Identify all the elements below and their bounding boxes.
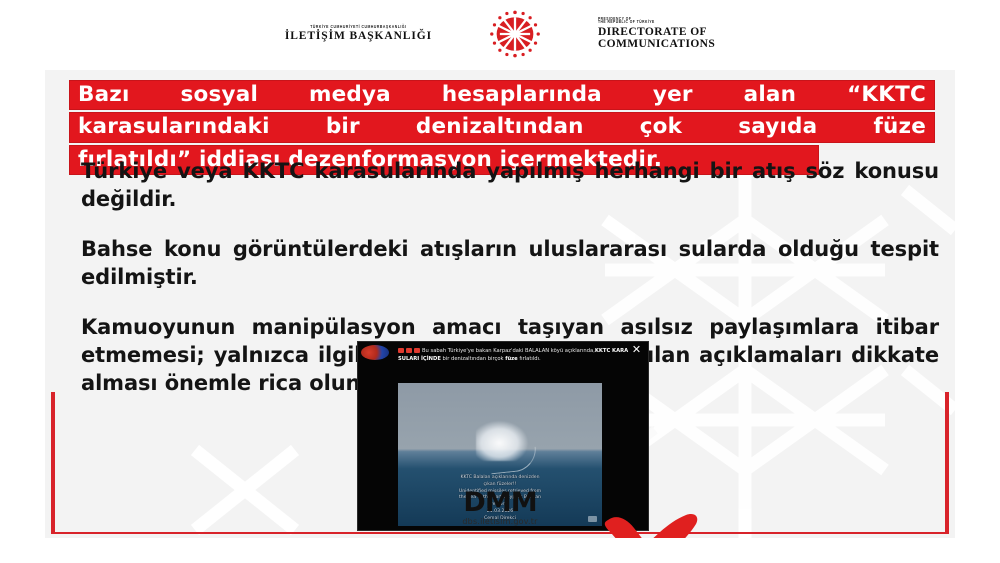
caption-mid: bir denizaltından birçok	[441, 356, 505, 362]
siren-emoji-icon	[398, 348, 404, 353]
subtitle-line-1: KKTC Balalan açıklarında denizden	[404, 475, 596, 482]
headline-line-1: Bazı sosyal medya hesaplarında yer alan …	[69, 80, 935, 110]
close-icon[interactable]: ✕	[631, 344, 642, 355]
caption-tail: fırlatıldı.	[518, 356, 541, 362]
footer-brand: DMM dbs.iletisim.gov.tr	[45, 490, 955, 526]
right-logo-superline-2: THE REPUBLIC OF TÜRKİYE	[598, 20, 715, 24]
right-accent-rail	[945, 392, 949, 534]
dmm-url-text: dbs.iletisim.gov.tr	[45, 517, 955, 526]
dmm-logo-text: DMM	[45, 490, 955, 516]
embed-header: ✕ Bu sabah Türkiye'ye bakan Karpaz'daki …	[358, 342, 648, 382]
siren-emoji-icon	[406, 348, 412, 353]
turkish-presidency-emblem-icon	[488, 7, 542, 61]
caption-lead: Bu sabah Türkiye'ye bakan Karpaz'daki BA…	[422, 348, 595, 354]
siren-emoji-icon	[414, 348, 420, 353]
missile-trail	[489, 447, 538, 475]
avatar	[361, 345, 389, 360]
caption-bold-2: füze	[505, 356, 518, 362]
header: TÜRKİYE CUMHURİYETİ CUMHURBAŞKANLIĞI İLE…	[0, 0, 1000, 68]
left-logo-superline: TÜRKİYE CUMHURİYETİ CUMHURBAŞKANLIĞI	[285, 25, 432, 29]
embed-caption: Bu sabah Türkiye'ye bakan Karpaz'daki BA…	[398, 345, 644, 363]
left-logo-name: İLETİŞİM BAŞKANLIĞI	[285, 31, 432, 43]
right-logo-name-line-1: DIRECTORATE OF	[598, 26, 715, 38]
right-logo-name-line-2: COMMUNICATIONS	[598, 38, 715, 50]
directorate-of-communications-logo: PRESIDENCY OF THE REPUBLIC OF TÜRKİYE DI…	[598, 18, 715, 51]
page-root: TÜRKİYE CUMHURİYETİ CUMHURBAŞKANLIĞI İLE…	[0, 0, 1000, 563]
headline-line-2: karasularındaki bir denizaltından çok sa…	[69, 112, 935, 142]
paragraph-2: Bahse konu görüntülerdeki atışların ulus…	[81, 236, 939, 292]
left-accent-rail	[51, 392, 55, 534]
paragraph-1: Türkiye veya KKTC karasularında yapılmış…	[81, 158, 939, 214]
bulletin-card: Bazı sosyal medya hesaplarında yer alan …	[45, 70, 955, 538]
bottom-accent-rail	[51, 532, 949, 535]
iletisim-baskanligi-logo: TÜRKİYE CUMHURİYETİ CUMHURBAŞKANLIĞI İLE…	[285, 26, 432, 43]
